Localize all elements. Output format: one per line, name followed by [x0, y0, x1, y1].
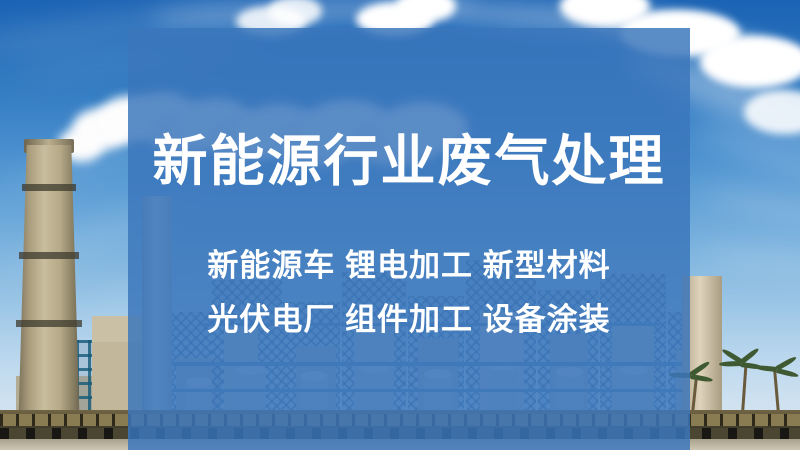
palm-tree [762, 364, 792, 414]
cumulus-cloud [700, 36, 800, 88]
banner-subtitle-line-2: 光伏电厂 组件加工 设备涂装 [128, 300, 690, 340]
smokestack-band [19, 252, 79, 259]
promo-banner: 新能源行业废气处理 新能源车 锂电加工 新型材料 光伏电厂 组件加工 设备涂装 [0, 0, 800, 450]
smokestack-band [22, 184, 76, 191]
banner-text-block: 新能源行业废气处理 新能源车 锂电加工 新型材料 光伏电厂 组件加工 设备涂装 [128, 28, 690, 450]
banner-title: 新能源行业废气处理 [128, 128, 690, 194]
palm-tree [726, 358, 756, 414]
palm-trunk [773, 370, 780, 414]
palm-trunk [741, 364, 747, 414]
banner-subtitle-line-1: 新能源车 锂电加工 新型材料 [128, 246, 690, 286]
smokestack-band [16, 320, 82, 327]
palm-trunk [691, 376, 698, 414]
